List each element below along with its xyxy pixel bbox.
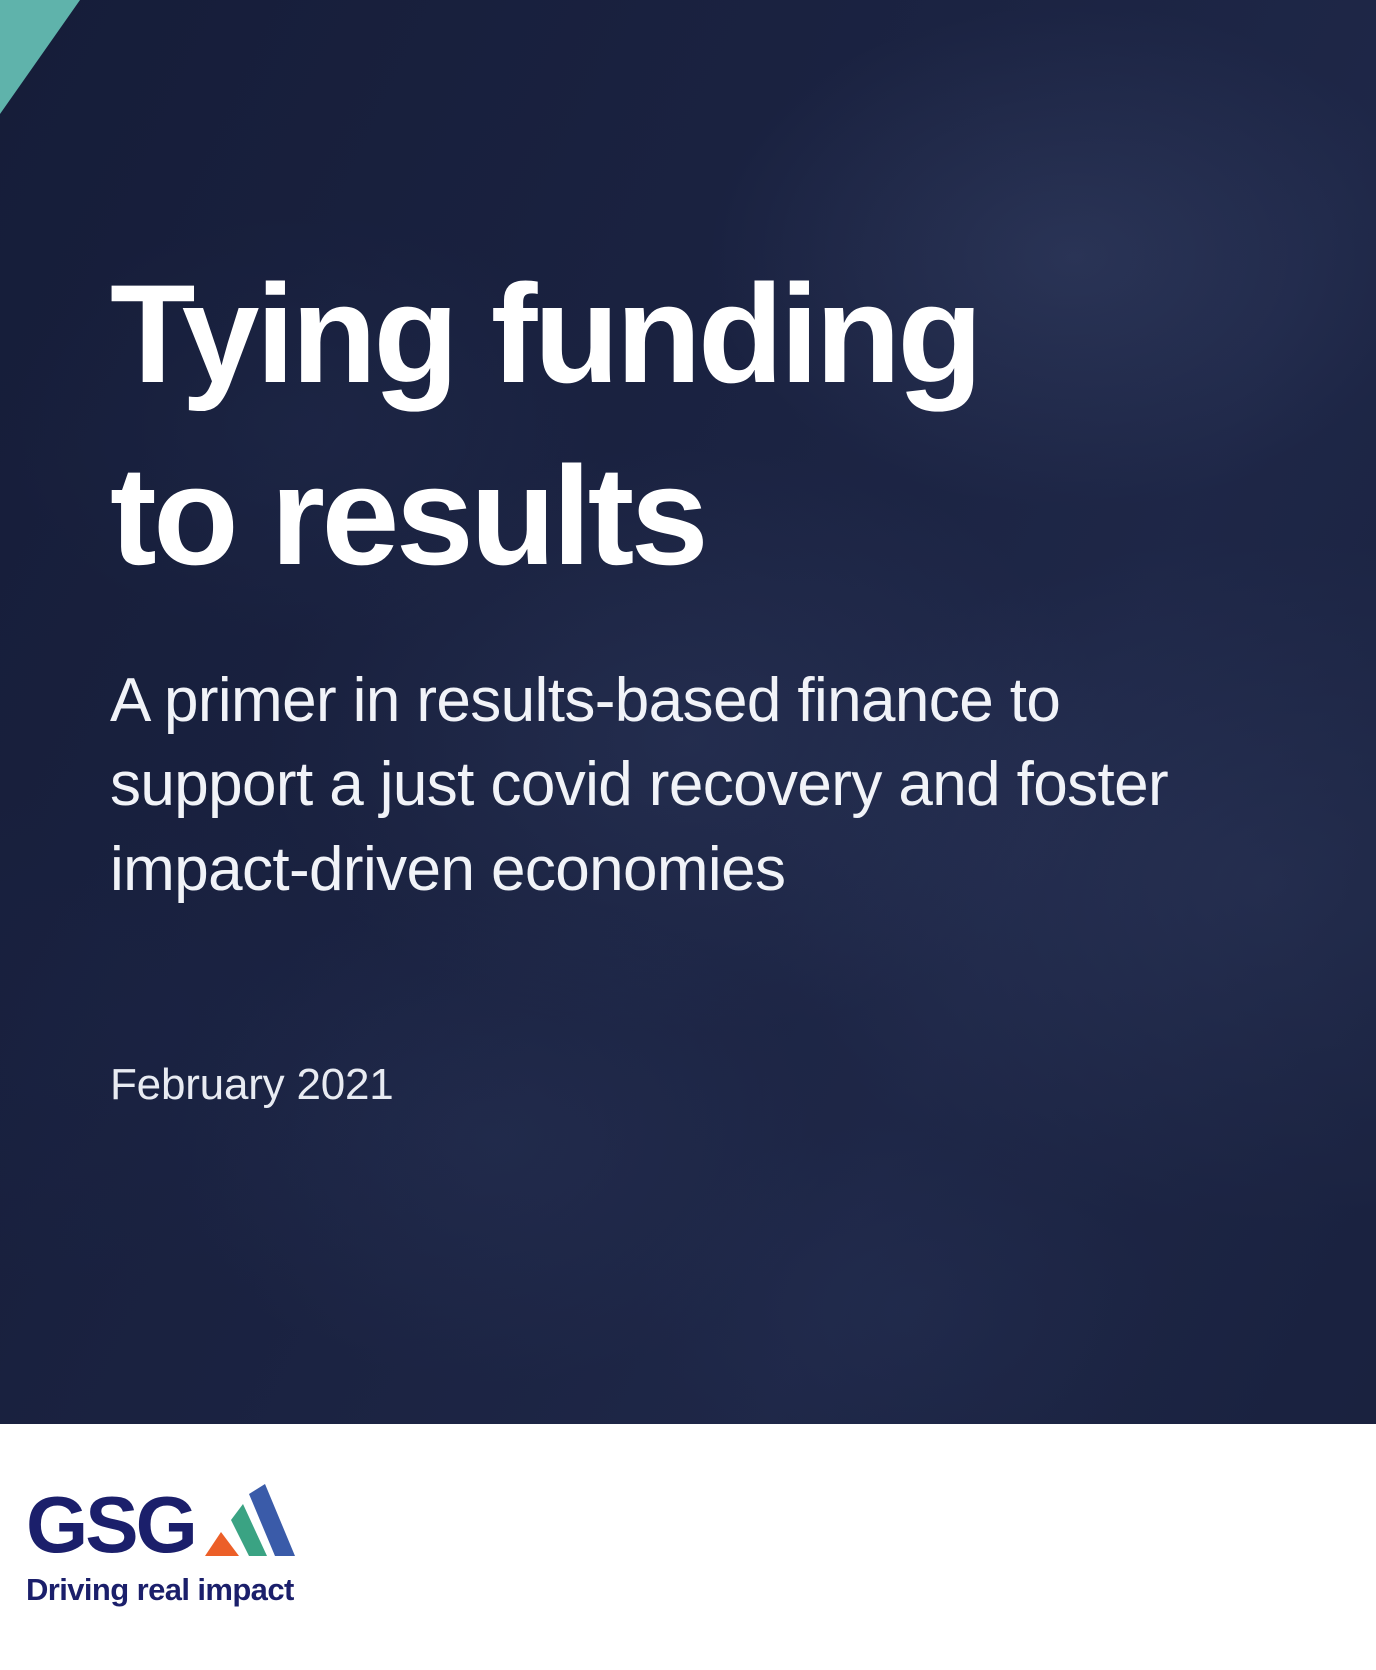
hero-panel: Tying fundingto results A primer in resu… <box>0 0 1376 1424</box>
cover-text-block: Tying fundingto results A primer in resu… <box>110 0 1260 1110</box>
page-title: Tying fundingto results <box>110 0 1220 607</box>
logo-wordmark-row: GSG <box>26 1482 295 1560</box>
page-title-line-2: to results <box>110 437 705 594</box>
logo-tagline-text: Driving real impact <box>26 1574 295 1605</box>
gsg-mountain-mark-icon <box>203 1482 295 1558</box>
cover-page: Tying fundingto results A primer in resu… <box>0 0 1376 1670</box>
page-title-line-1: Tying funding <box>110 255 979 412</box>
page-subtitle: A primer in results-based finance to sup… <box>110 607 1240 912</box>
teal-corner-triangle-decoration <box>0 0 80 114</box>
logo-wordmark-text: GSG <box>26 1490 195 1560</box>
gsg-logo: GSG Driving real impact <box>26 1482 295 1605</box>
footer-bar: GSG Driving real impact <box>0 1424 1376 1670</box>
publication-date: February 2021 <box>110 912 1260 1110</box>
